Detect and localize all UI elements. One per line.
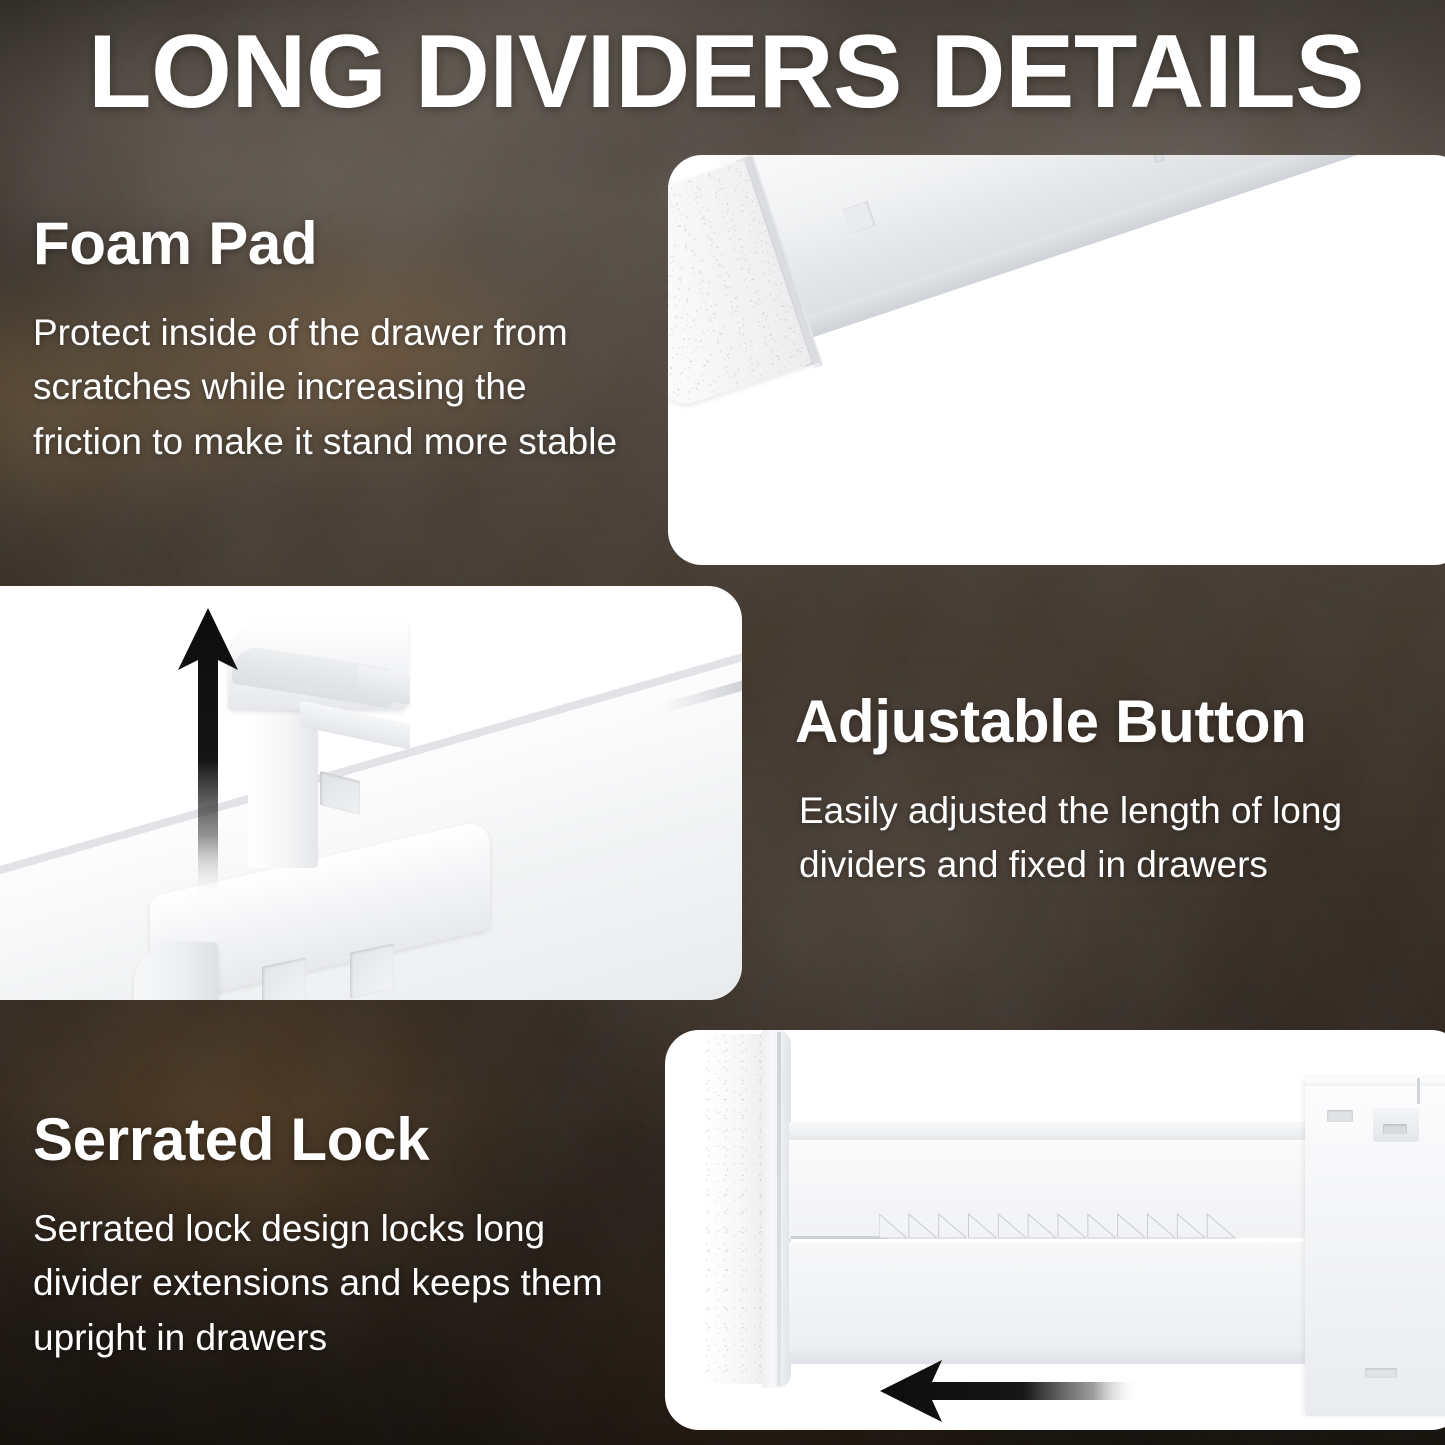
photo-panel-adjustable-button: [0, 586, 742, 1000]
adjustable-button-hole-right: [350, 943, 394, 998]
serrated-lock-foam-pad: [703, 1034, 763, 1384]
page-title: LONG DIVIDERS DETAILS: [88, 18, 1364, 127]
serrated-lock-end-seam: [777, 1032, 781, 1386]
left-arrow-icon: [880, 1358, 1140, 1424]
divider-extension-slab-top: [1305, 1078, 1445, 1086]
divider-extension-seam: [1417, 1078, 1420, 1104]
photo-panel-foam-pad: [668, 155, 1445, 565]
feature-heading-serrated-lock: Serrated Lock: [33, 1108, 633, 1172]
feature-heading-adjustable-button: Adjustable Button: [795, 690, 1415, 754]
divider-extension-tab-hole: [1383, 1124, 1407, 1134]
divider-extension-foot-notch: [1365, 1368, 1397, 1378]
feature-body-adjustable-button: Easily adjusted the length of long divid…: [799, 784, 1415, 894]
serrated-lock-hairline: [791, 1236, 887, 1239]
feature-body-foam-pad: Protect inside of the drawer from scratc…: [33, 306, 633, 470]
serrated-lock-end-cap: [761, 1030, 791, 1388]
up-arrow-icon: [176, 608, 240, 900]
feature-serrated-lock: Serrated Lock Serrated lock design locks…: [33, 1108, 633, 1366]
feature-heading-foam-pad: Foam Pad: [33, 212, 633, 276]
foam-pad-product-illustration: [668, 155, 1445, 565]
feature-adjustable-button: Adjustable Button Easily adjusted the le…: [795, 690, 1415, 893]
serrated-lock-lower-face: [789, 1242, 1309, 1350]
divider-extension-notch: [1327, 1110, 1353, 1122]
serrated-lock-rail-top: [789, 1122, 1309, 1142]
serrated-teeth-icon: [879, 1208, 1237, 1240]
infographic-stage: LONG DIVIDERS DETAILS Foam Pad Protect i…: [0, 0, 1445, 1445]
feature-body-serrated-lock: Serrated lock design locks long divider …: [33, 1202, 633, 1366]
feature-foam-pad: Foam Pad Protect inside of the drawer fr…: [33, 212, 633, 470]
